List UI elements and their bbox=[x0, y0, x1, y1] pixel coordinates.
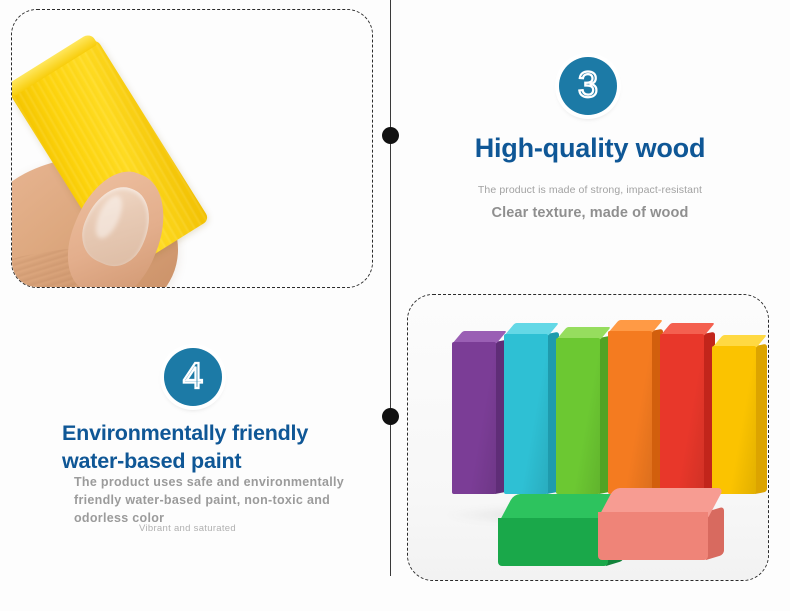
tall-block-red bbox=[660, 334, 704, 494]
photo-rainbow-wooden-blocks bbox=[408, 295, 768, 580]
flat-block-front-face bbox=[598, 512, 708, 560]
flat-block-green-flat bbox=[498, 494, 608, 566]
block-side-face bbox=[755, 344, 767, 494]
tall-block-purple bbox=[452, 342, 496, 494]
timeline-dot-bottom bbox=[382, 408, 399, 425]
feature-subtitle-small-4: Vibrant and saturated bbox=[139, 522, 379, 536]
feature-title-3: High-quality wood bbox=[440, 133, 740, 164]
block-front-face bbox=[660, 334, 704, 494]
tall-block-green bbox=[556, 338, 600, 494]
tall-block-orange bbox=[608, 331, 652, 494]
tall-block-cyan bbox=[504, 334, 548, 494]
feature-subtitle-small-3: The product is made of strong, impact-re… bbox=[440, 184, 740, 196]
feature-badge-4: 4 bbox=[164, 348, 222, 406]
feature-subtitle-large-4: The product uses safe and environmentall… bbox=[74, 474, 374, 527]
tall-block-yellow bbox=[712, 346, 756, 494]
timeline-dot-top bbox=[382, 127, 399, 144]
feature-subtitle-large-3: Clear texture, made of wood bbox=[440, 205, 740, 221]
feature-badge-3-number: 3 bbox=[578, 67, 598, 103]
photo-frame-rainbow-blocks bbox=[407, 294, 769, 581]
feature-title-4: Environmentally friendly water-based pai… bbox=[62, 420, 374, 475]
flat-block-pink-flat bbox=[598, 488, 708, 560]
feature-badge-4-number: 4 bbox=[183, 358, 203, 394]
flat-block-front-face bbox=[498, 518, 608, 566]
timeline-line bbox=[390, 0, 391, 576]
block-front-face bbox=[556, 338, 600, 494]
block-front-face bbox=[504, 334, 548, 494]
photo-hand-holding-yellow-block bbox=[12, 10, 372, 287]
block-front-face bbox=[452, 342, 496, 494]
block-front-face bbox=[608, 331, 652, 494]
block-front-face bbox=[712, 346, 756, 494]
photo-frame-hand-block bbox=[11, 9, 373, 288]
infographic-page: 3 High-quality wood The product is made … bbox=[0, 0, 790, 611]
feature-badge-3: 3 bbox=[559, 57, 617, 115]
